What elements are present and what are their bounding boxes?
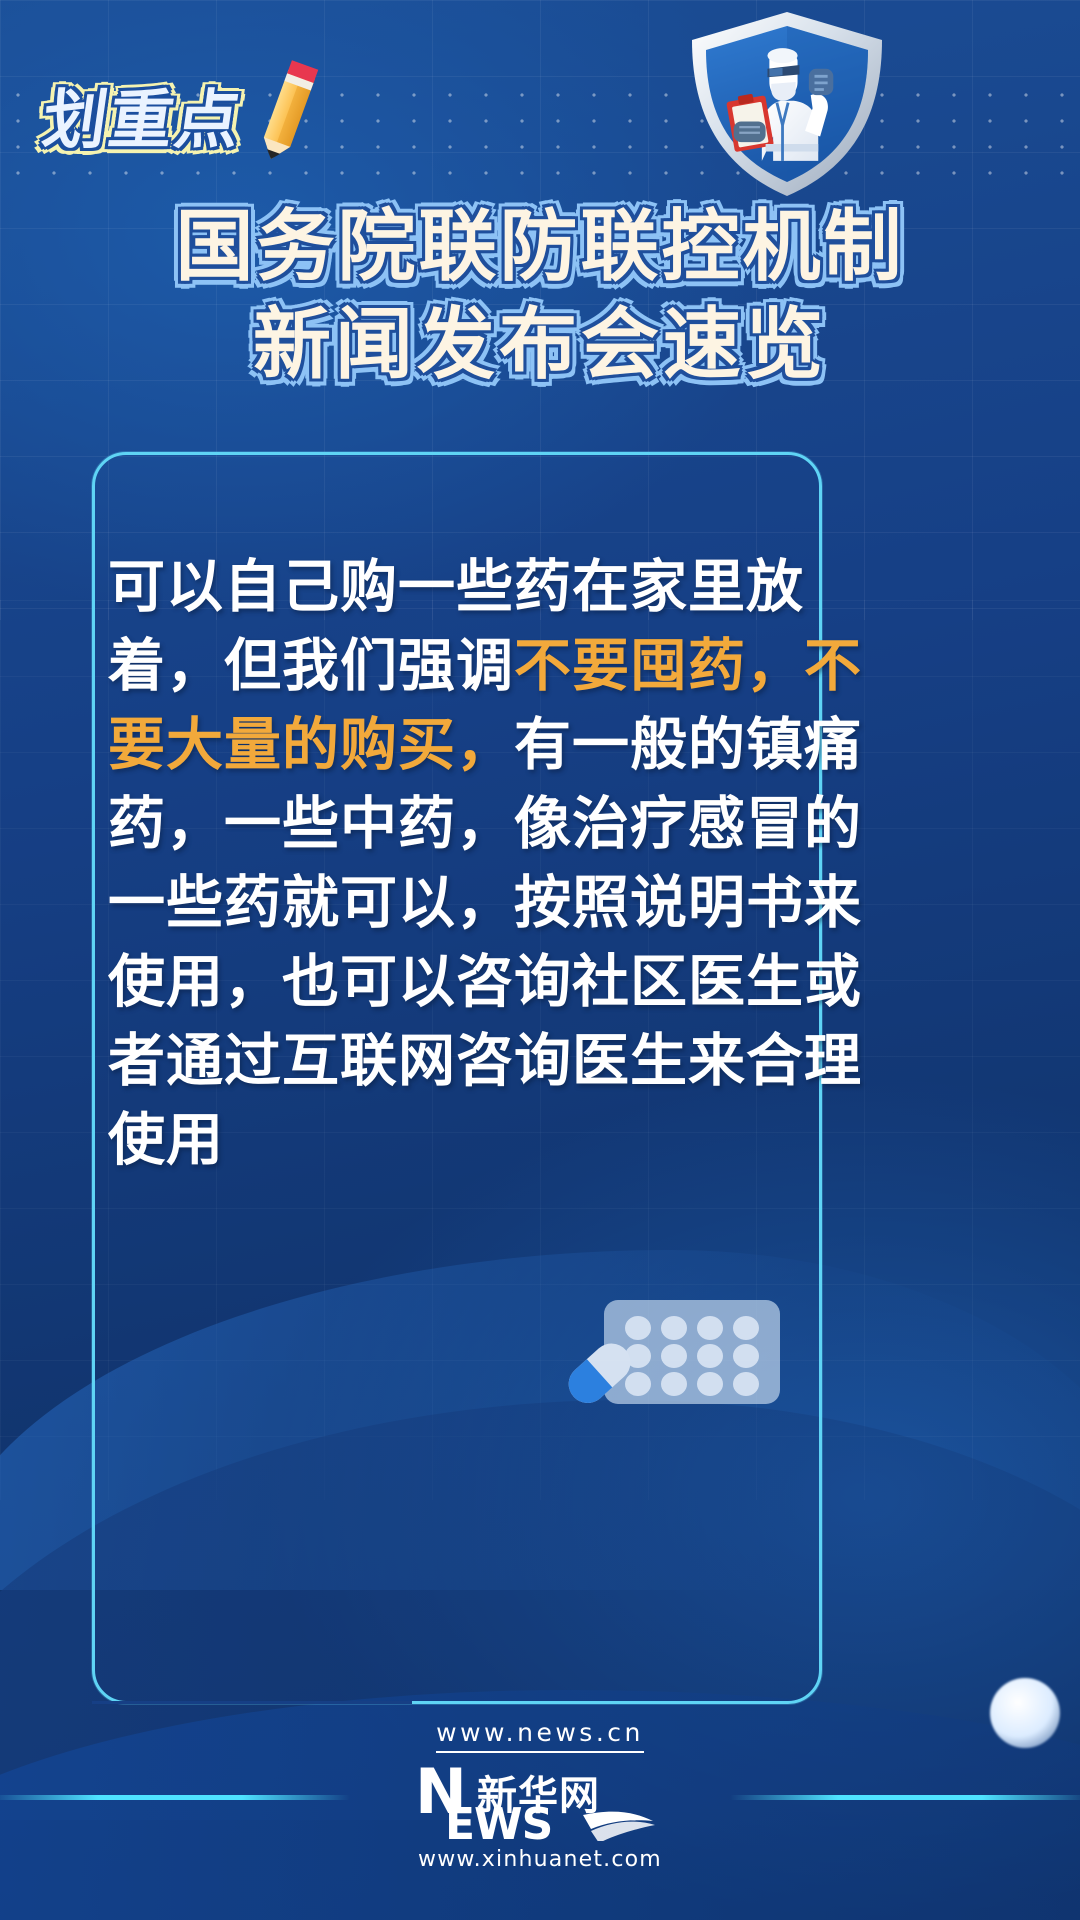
quote-text: 使用，也可以咨询社区医生或 [108, 949, 862, 1015]
footer-url-bottom: www.xinhuanet.com [418, 1847, 662, 1872]
key-points-badge: 划重点 [44, 58, 324, 172]
quote-highlight-text: 不要囤药，不 [514, 633, 862, 699]
quote-highlight-text: 要大量的购买， [108, 712, 514, 778]
quote-line: 使用 [108, 1101, 808, 1180]
quote-text: 使用 [108, 1107, 224, 1173]
page-title: 国务院联防联控机制 新闻发布会速览 [0, 198, 1080, 394]
quote-text: 者通过互联网咨询医生来合理 [108, 1028, 862, 1094]
background-sweep-upper [0, 1250, 1080, 1590]
quote-line: 者通过互联网咨询医生来合理 [108, 1022, 808, 1101]
footer-url-top: www.news.cn [436, 1718, 644, 1753]
quote-body: 可以自己购一些药在家里放着，但我们强调不要囤药，不要大量的购买，有一般的镇痛药，… [108, 548, 808, 1180]
footer-brand-row: N EWS 新华网 [415, 1759, 665, 1841]
xinhua-news-wordmark-icon: N EWS 新华网 [415, 1759, 665, 1841]
quote-text: 有一般的镇痛 [514, 712, 862, 778]
quote-line: 一些药就可以，按照说明书来 [108, 864, 808, 943]
quote-text: 一些药就可以，按照说明书来 [108, 870, 862, 936]
pencil-icon [252, 58, 324, 166]
key-points-badge-label: 划重点 [38, 69, 249, 161]
quote-text: 可以自己购一些药在家里放 [108, 554, 804, 620]
xinhua-footer-logo: www.news.cn N EWS 新华网 www.xinhuanet.com [0, 1718, 1080, 1872]
shield-medical-worker-icon [672, 6, 902, 202]
quote-line: 可以自己购一些药在家里放 [108, 548, 808, 627]
quote-line: 药，一些中药，像治疗感冒的 [108, 785, 808, 864]
quote-line: 使用，也可以咨询社区医生或 [108, 943, 808, 1022]
pill-blister-pack-icon [556, 1292, 780, 1432]
headline-line-1: 国务院联防联控机制 [0, 198, 1080, 296]
poster-root: 划重点 [0, 0, 1080, 1920]
headline-line-2: 新闻发布会速览 [0, 296, 1080, 394]
quote-line: 着，但我们强调不要囤药，不 [108, 627, 808, 706]
quote-text: 着，但我们强调 [108, 633, 514, 699]
quote-line: 要大量的购买，有一般的镇痛 [108, 706, 808, 785]
svg-text:新华网: 新华网 [477, 1773, 600, 1819]
quote-text: 药，一些中药，像治疗感冒的 [108, 791, 862, 857]
